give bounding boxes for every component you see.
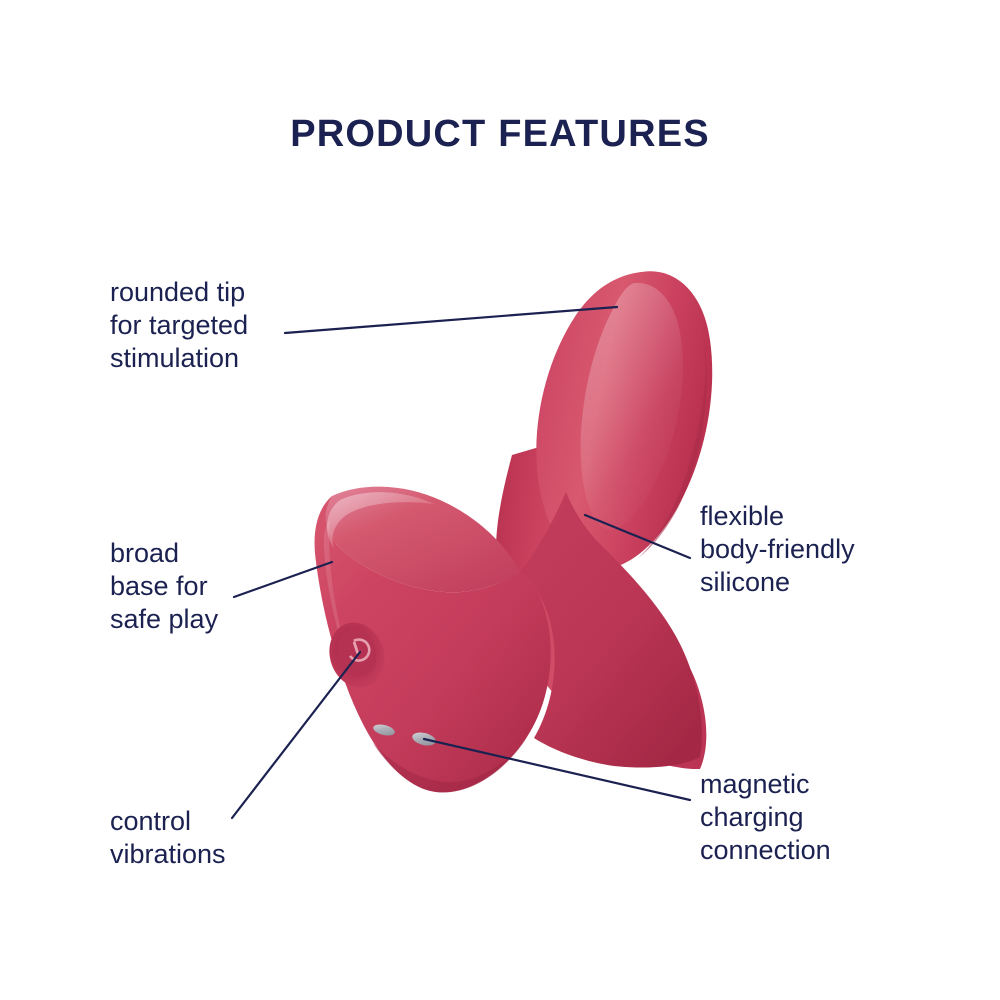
leader-rounded-tip xyxy=(285,307,617,333)
leader-control-vibrations xyxy=(232,652,360,818)
feature-label-rounded-tip: rounded tip for targeted stimulation xyxy=(110,276,248,375)
product-features-diagram: PRODUCT FEATURES xyxy=(0,0,1000,1000)
feature-label-control-vibrations: control vibrations xyxy=(110,805,226,871)
leader-broad-base xyxy=(234,562,332,597)
feature-label-flexible-silicone: flexible body-friendly silicone xyxy=(700,500,855,599)
feature-label-magnetic-charging: magnetic charging connection xyxy=(700,768,831,867)
feature-label-broad-base: broad base for safe play xyxy=(110,537,218,636)
product-body xyxy=(315,271,713,792)
